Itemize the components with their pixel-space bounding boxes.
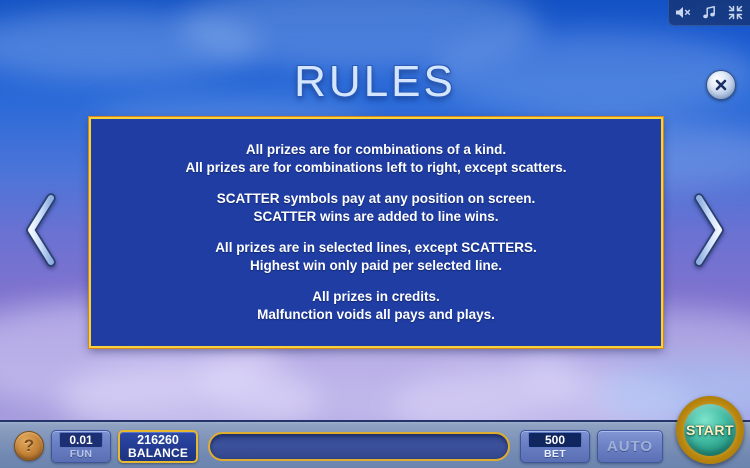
prev-page-arrow[interactable] xyxy=(24,192,58,268)
rule-line: All prizes in credits. xyxy=(91,288,661,306)
message-bar[interactable] xyxy=(208,432,510,461)
bet-button[interactable]: 500 BET xyxy=(520,430,590,463)
system-icon-bar xyxy=(668,0,750,26)
page-title: RULES xyxy=(0,57,750,107)
rule-group: All prizes are in selected lines, except… xyxy=(91,239,661,275)
balance-display[interactable]: 216260 BALANCE xyxy=(118,430,198,463)
next-page-arrow[interactable] xyxy=(692,192,726,268)
game-screen: RULES All prizes are for combinations of… xyxy=(0,0,750,468)
auto-button[interactable]: AUTO xyxy=(597,430,663,463)
rule-line: All prizes are for combinations left to … xyxy=(91,159,661,177)
music-note-icon[interactable] xyxy=(701,4,718,21)
rules-panel: All prizes are for combinations of a kin… xyxy=(89,117,663,348)
balance-label: BALANCE xyxy=(128,447,188,460)
balance-value: 216260 xyxy=(137,433,179,447)
rule-group: All prizes in credits. Malfunction voids… xyxy=(91,288,661,324)
rule-line: Highest win only paid per selected line. xyxy=(91,257,661,275)
start-button[interactable]: START xyxy=(676,396,744,464)
rule-line: All prizes are in selected lines, except… xyxy=(91,239,661,257)
help-icon: ? xyxy=(24,436,34,456)
chevron-right-icon xyxy=(692,192,726,268)
bet-value: 500 xyxy=(528,432,582,448)
coin-value-button[interactable]: 0.01 FUN xyxy=(51,430,111,463)
start-button-face: START xyxy=(684,404,736,456)
rule-line: Malfunction voids all pays and plays. xyxy=(91,306,661,324)
bottom-control-bar: ? 0.01 FUN 216260 BALANCE 500 BET AUTO xyxy=(0,420,750,468)
rule-line: SCATTER symbols pay at any position on s… xyxy=(91,190,661,208)
rule-group: All prizes are for combinations of a kin… xyxy=(91,141,661,177)
fullscreen-exit-icon[interactable] xyxy=(727,4,744,21)
rule-group: SCATTER symbols pay at any position on s… xyxy=(91,190,661,226)
sound-mute-icon[interactable] xyxy=(675,4,692,21)
rule-line: SCATTER wins are added to line wins. xyxy=(91,208,661,226)
help-button[interactable]: ? xyxy=(14,431,44,461)
rule-line: All prizes are for combinations of a kin… xyxy=(91,141,661,159)
coin-value-label: FUN xyxy=(70,448,92,460)
start-button-label: START xyxy=(686,422,734,438)
coin-value: 0.01 xyxy=(59,432,103,448)
bet-label: BET xyxy=(544,448,566,460)
chevron-left-icon xyxy=(24,192,58,268)
